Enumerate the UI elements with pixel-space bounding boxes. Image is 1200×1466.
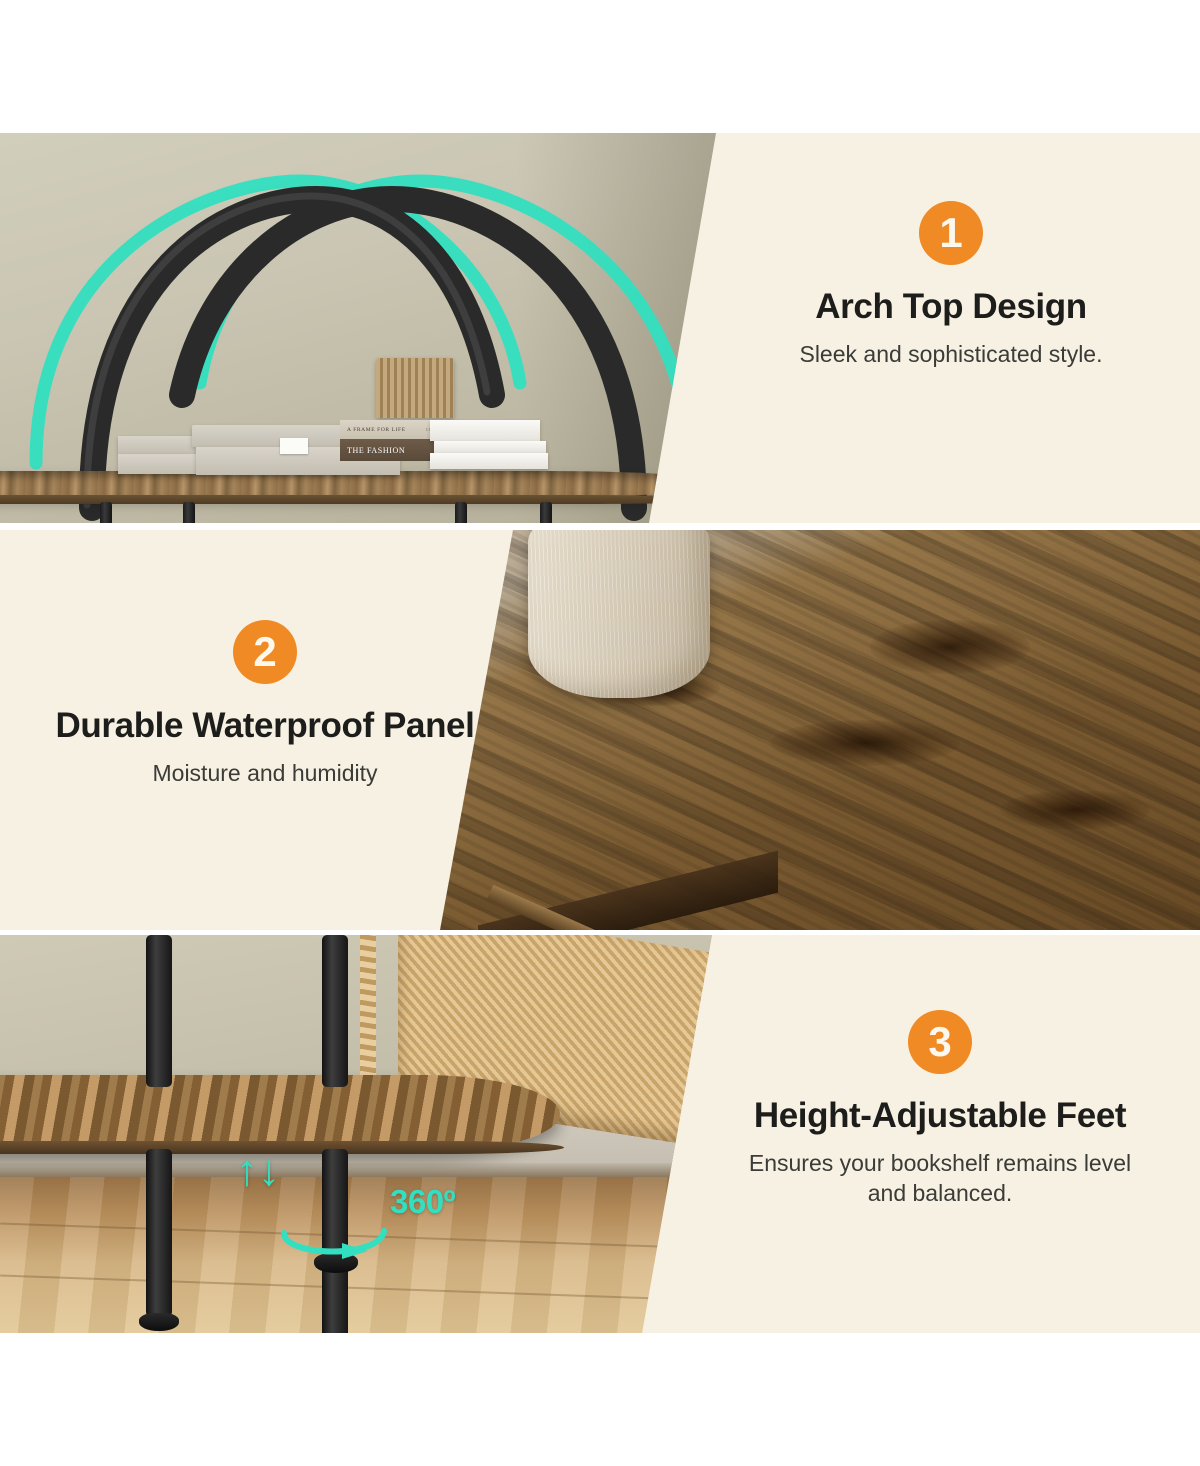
rotation-degrees-label: 360º <box>390 1183 455 1221</box>
feature-2-text-block: 2 Durable Waterproof Panel Moisture and … <box>10 620 520 789</box>
infographic-page: A FRAME FOR LIFE CO DESIGNS THE FASHION … <box>0 0 1200 1466</box>
white-book-stack <box>430 453 548 469</box>
arch-top-bookshelf-photo: A FRAME FOR LIFE CO DESIGNS THE FASHION <box>0 133 716 523</box>
feature-number-badge: 3 <box>908 1010 972 1074</box>
book-title-text: THE FASHION <box>347 446 405 455</box>
up-down-arrows-icon: ↑↓ <box>236 1149 280 1193</box>
wood-knot <box>1000 790 1150 830</box>
shelf-post <box>146 935 172 1087</box>
wood-knot <box>870 620 1030 674</box>
feature-panel-2: 2 Durable Waterproof Panel Moisture and … <box>0 530 1200 930</box>
box-handle <box>280 438 308 454</box>
rustic-wood-panel-closeup-photo <box>440 530 1200 930</box>
feature-subtitle: Ensures your bookshelf remains level and… <box>730 1149 1150 1209</box>
feature-number-badge: 2 <box>233 620 297 684</box>
shelf-leg <box>540 502 552 523</box>
pleated-paper-vase <box>376 358 454 418</box>
grey-storage-box <box>118 454 200 474</box>
shelf-post <box>322 935 348 1087</box>
baseboard <box>0 1163 716 1177</box>
rotation-arrow-icon <box>276 1211 396 1267</box>
book-title-text: A FRAME FOR LIFE <box>347 427 406 433</box>
feature-number-badge: 1 <box>919 201 983 265</box>
shelf-leg <box>100 502 112 523</box>
white-book-stack <box>434 441 546 453</box>
feature-1-text-block: 1 Arch Top Design Sleek and sophisticate… <box>716 201 1186 370</box>
feature-subtitle: Sleek and sophisticated style. <box>716 340 1186 370</box>
shelf-leg <box>183 502 195 523</box>
white-book-stack <box>430 420 540 441</box>
vase-texture <box>528 530 710 698</box>
adjustable-foot <box>139 1313 179 1331</box>
ceramic-vase <box>528 530 710 698</box>
feature-panel-1: A FRAME FOR LIFE CO DESIGNS THE FASHION … <box>0 133 1200 523</box>
feature-title: Durable Waterproof Panel <box>10 706 520 745</box>
grey-storage-box <box>118 436 200 454</box>
feature-panel-3: ↑↓ 360º 3 Height-Adjustable Feet Ensures… <box>0 935 1200 1333</box>
shelf-board-edge <box>0 1141 564 1154</box>
adjustable-feet-closeup-photo: ↑↓ 360º <box>0 935 716 1333</box>
feature-title: Height-Adjustable Feet <box>700 1096 1180 1135</box>
wood-knot <box>770 720 960 766</box>
feature-title: Arch Top Design <box>716 287 1186 326</box>
shelf-leg <box>455 502 467 523</box>
feature-3-text-block: 3 Height-Adjustable Feet Ensures your bo… <box>700 1010 1180 1209</box>
shelf-post <box>146 1149 172 1317</box>
feature-subtitle: Moisture and humidity <box>10 759 520 789</box>
